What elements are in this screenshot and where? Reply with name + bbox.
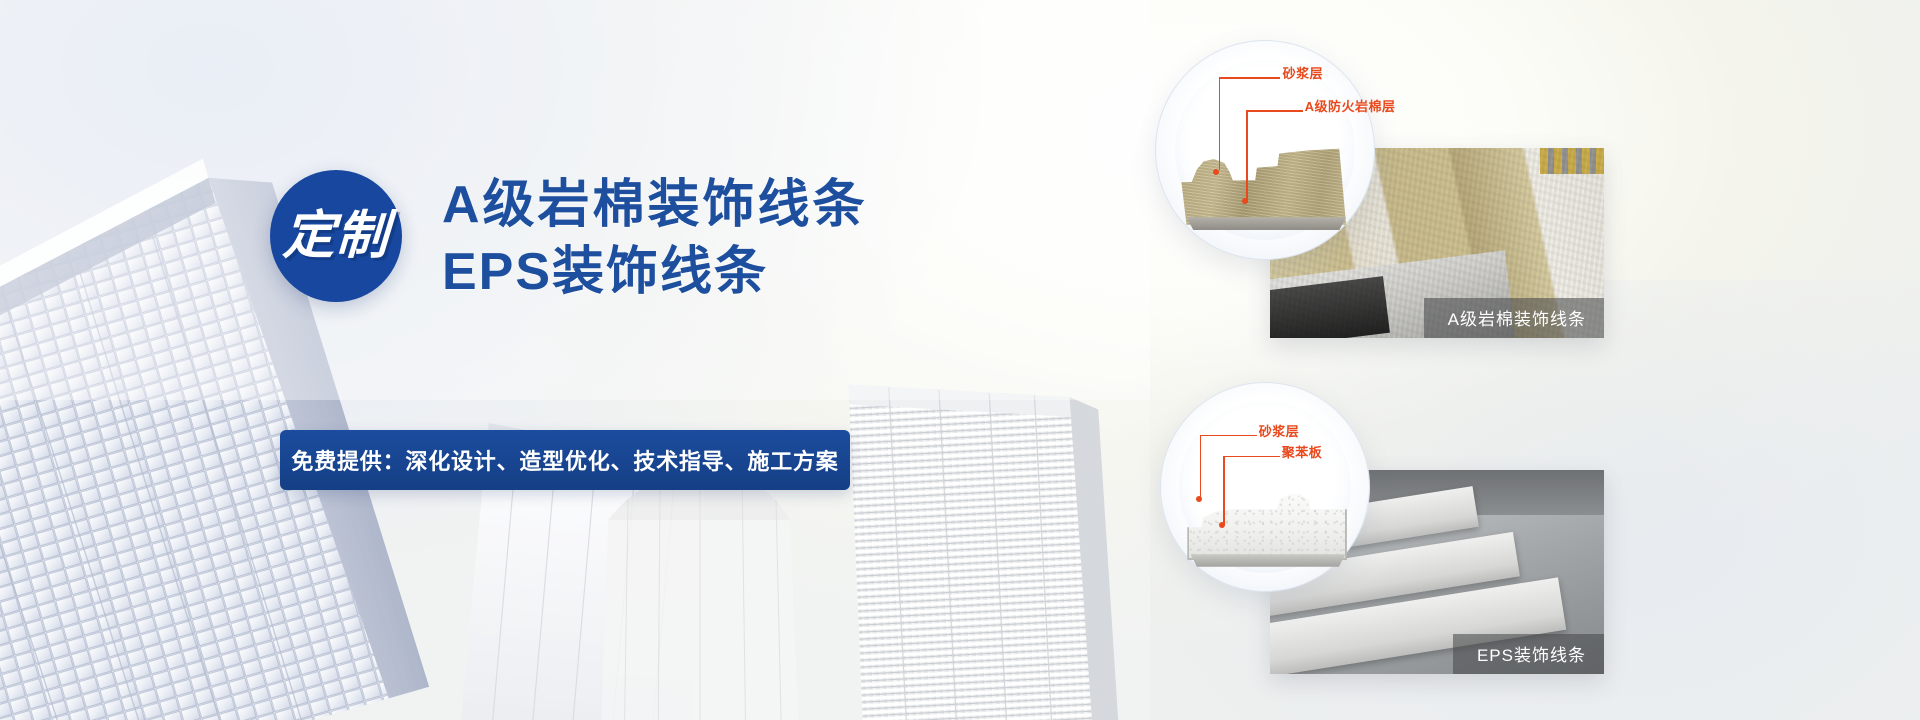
headline-line-2: EPS装饰线条 <box>442 239 868 306</box>
services-ribbon: 免费提供：深化设计、造型优化、技术指导、施工方案 <box>280 430 850 490</box>
promo-banner: 定制 A级岩棉装饰线条 EPS装饰线条 免费提供：深化设计、造型优化、技术指导、… <box>0 0 1920 720</box>
rockwool-profile-base <box>1181 217 1353 230</box>
rockwool-callout-2-label: A级防火岩棉层 <box>1305 96 1396 115</box>
eps-callout-1-label: 砂浆层 <box>1259 421 1300 440</box>
eps-photo-caption: EPS装饰线条 <box>1453 634 1604 674</box>
eps-callout-2-stem <box>1223 456 1225 525</box>
eps-callout-1-stem <box>1200 435 1202 500</box>
custom-badge-label: 定制 <box>282 210 391 262</box>
eps-callout-1-arm <box>1200 435 1257 437</box>
rockwool-callout-1-label: 砂浆层 <box>1283 63 1324 82</box>
headline-group: A级岩棉装饰线条 EPS装饰线条 <box>442 172 868 305</box>
rockwool-callout-2-arm <box>1246 110 1303 112</box>
rockwool-profile-shape <box>1181 146 1353 225</box>
rockwool-callout-1-stem <box>1219 77 1221 169</box>
rockwool-profile-diagram: 砂浆层 A级防火岩棉层 <box>1155 40 1375 260</box>
eps-profile-shape <box>1187 491 1347 560</box>
eps-callout-2-arm <box>1223 456 1280 458</box>
custom-badge: 定制 <box>270 170 402 302</box>
eps-profile-diagram: 砂浆层 聚苯板 <box>1160 382 1370 592</box>
headline-line-1: A级岩棉装饰线条 <box>442 172 868 239</box>
eps-profile-base <box>1187 554 1347 567</box>
services-ribbon-label: 免费提供：深化设计、造型优化、技术指导、施工方案 <box>291 444 838 476</box>
rockwool-photo-caption: A级岩棉装饰线条 <box>1424 298 1604 338</box>
skyscraper-photo-art <box>0 0 1150 720</box>
rockwool-callout-1-arm <box>1219 77 1281 79</box>
rockwool-callout-2-stem <box>1246 110 1248 202</box>
eps-callout-2-label: 聚苯板 <box>1282 442 1323 461</box>
